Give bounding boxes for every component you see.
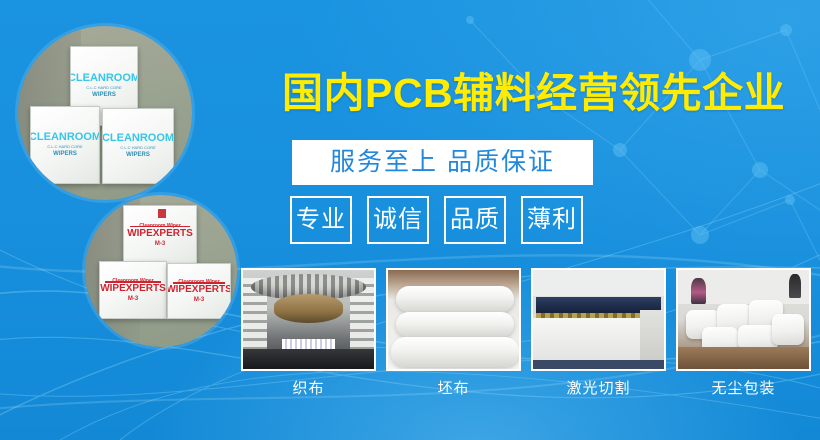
red-stamp-icon <box>158 209 166 218</box>
pack-code: M-3 <box>128 296 138 302</box>
thumbnail-image-fabric-rolls <box>386 268 521 371</box>
thumbnail-caption: 无尘包装 <box>676 381 811 396</box>
headline: 国内PCB辅料经营领先企业 <box>282 73 785 114</box>
keyword-chip-chengxin[interactable]: 诚信 <box>367 196 429 244</box>
process-thumbnail-cleanroom-packing[interactable]: 无尘包装 <box>676 268 811 396</box>
keyword-chip-label: 专业 <box>296 208 346 232</box>
process-thumbnail-greige-fabric[interactable]: 坯布 <box>386 268 521 396</box>
keyword-chip-zhuanye[interactable]: 专业 <box>290 196 352 244</box>
cleanroom-pack-left: CLEANROOM C.L.C HARD CORE WIPERS <box>30 106 100 184</box>
keyword-chip-list: 专业 诚信 品质 薄利 <box>290 196 583 244</box>
pack-subtitle-2: WIPERS <box>53 151 77 157</box>
pack-subtitle-1: C.L.C HARD CORE <box>47 145 82 149</box>
slogan-box: 服务至上 品质保证 <box>292 140 593 185</box>
thumbnail-image-cleanroom-packing <box>676 268 811 371</box>
process-thumbnail-laser-cutting[interactable]: 激光切割 <box>531 268 666 396</box>
thumbnail-image-knitting-machine <box>241 268 376 371</box>
keyword-chip-label: 品质 <box>450 208 500 232</box>
pack-subtitle-2: WIPERS <box>126 152 150 158</box>
pack-code: M-3 <box>155 241 165 247</box>
pack-title: CLEANROOM <box>102 133 174 144</box>
product-photo-cleanroom-wipes: CLEANROOM C.L.C HARD CORE WIPERS CLEANRO… <box>18 26 192 200</box>
pack-title: CLEANROOM <box>70 73 138 84</box>
product-photo-wipexperts: Cleanroom Wiper WIPEXPERTS M-3 Cleanroom… <box>85 195 237 347</box>
cleanroom-pack-right: CLEANROOM C.L.C HARD CORE WIPERS <box>102 108 174 184</box>
process-thumbnail-weaving[interactable]: 织布 <box>241 268 376 396</box>
promo-banner: CLEANROOM C.L.C HARD CORE WIPERS CLEANRO… <box>0 0 820 440</box>
thumbnail-caption: 织布 <box>241 381 376 396</box>
slogan-text: 服务至上 品质保证 <box>330 150 555 175</box>
pack-subtitle-2: WIPERS <box>92 92 116 98</box>
keyword-chip-baoli[interactable]: 薄利 <box>521 196 583 244</box>
pack-code: M-3 <box>194 297 204 303</box>
pack-title: WIPEXPERTS <box>167 285 231 295</box>
thumbnail-image-laser-cutter <box>531 268 666 371</box>
process-thumbnail-list: 织布 坯布 激光切割 <box>241 268 811 396</box>
pack-title: CLEANROOM <box>30 132 100 143</box>
keyword-chip-pinzhi[interactable]: 品质 <box>444 196 506 244</box>
keyword-chip-label: 诚信 <box>373 208 423 232</box>
wipexperts-pack-top: Cleanroom Wiper WIPEXPERTS M-3 <box>123 205 197 265</box>
thumbnail-caption: 激光切割 <box>531 381 666 396</box>
pack-title: WIPEXPERTS <box>100 284 166 294</box>
wipexperts-pack-left: Cleanroom Wiper WIPEXPERTS M-3 <box>99 261 167 319</box>
pack-subtitle-1: C.L.C HARD CORE <box>86 86 121 90</box>
keyword-chip-label: 薄利 <box>527 208 577 232</box>
thumbnail-caption: 坯布 <box>386 381 521 396</box>
wipexperts-pack-right: Cleanroom Wiper WIPEXPERTS M-3 <box>167 263 231 319</box>
pack-title: WIPEXPERTS <box>127 229 193 239</box>
pack-subtitle-1: C.L.C HARD CORE <box>120 146 155 150</box>
